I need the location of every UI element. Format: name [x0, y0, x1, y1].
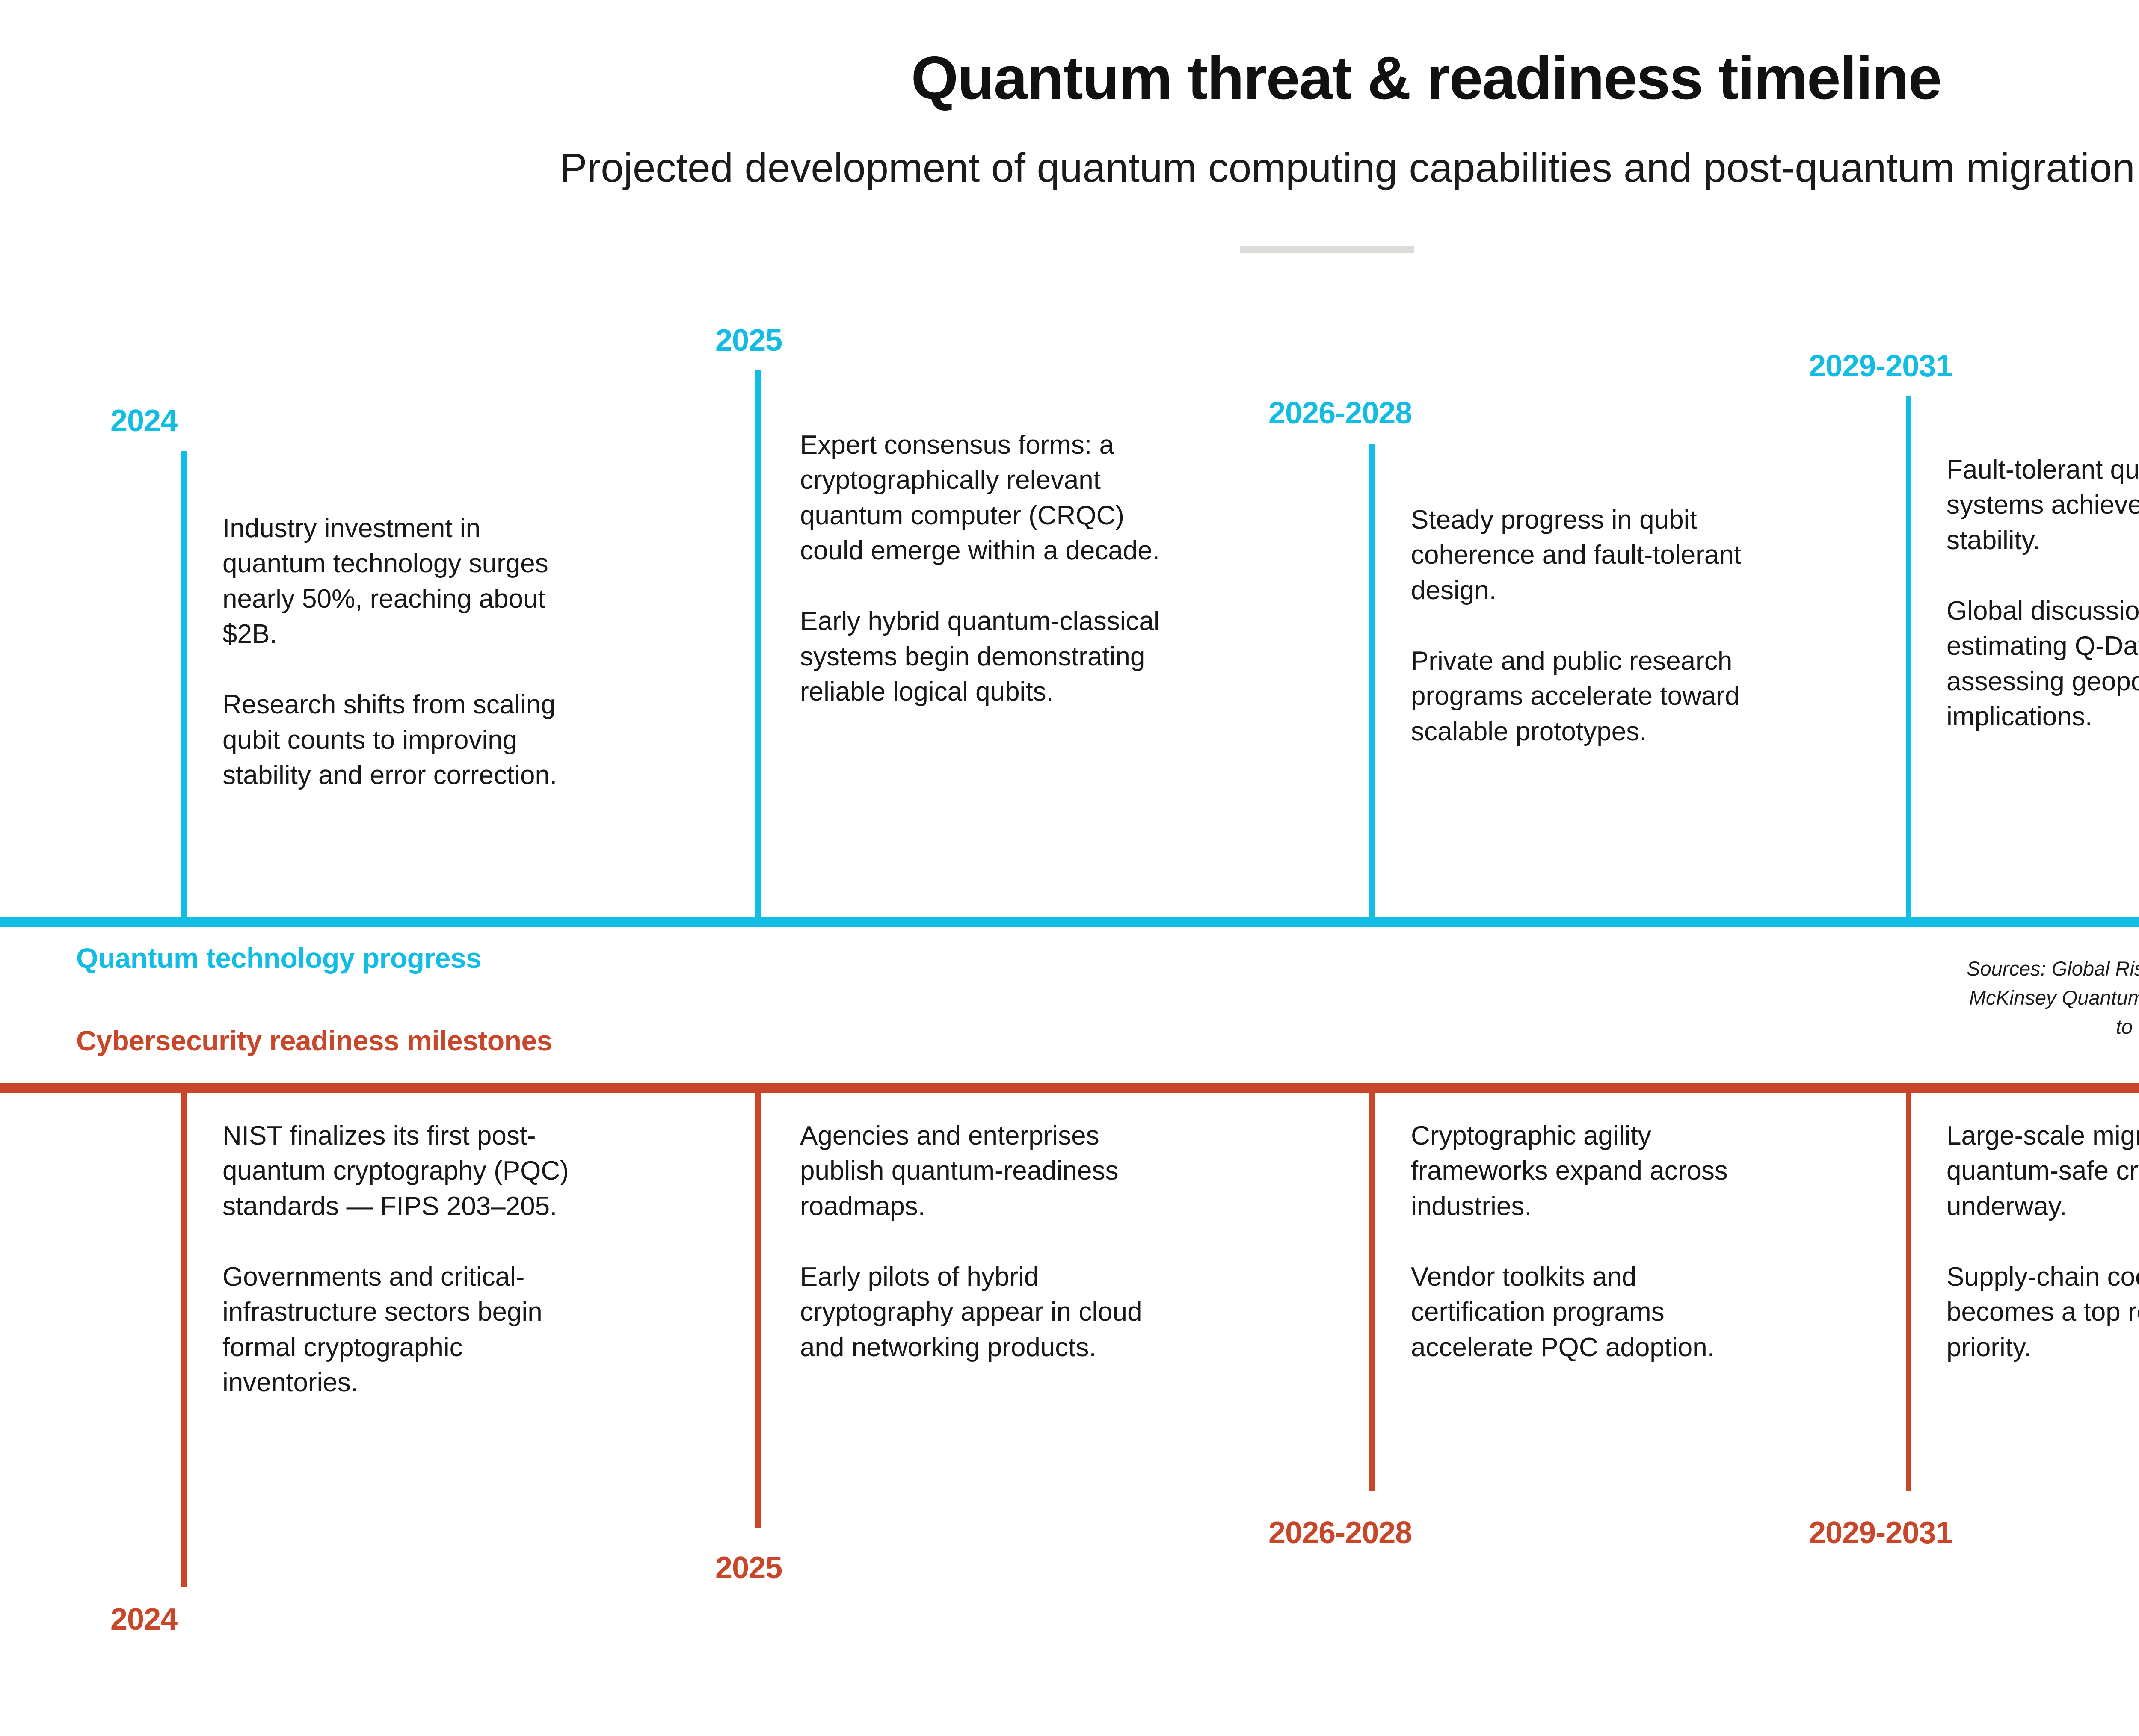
quantum-tick-2029-2031	[1906, 396, 1911, 918]
quantum-body-2029-2031-p1: Fault-tolerant quantum systems achieve m…	[1946, 452, 2139, 558]
cyber-track-label: Cybersecurity readiness milestones	[76, 1026, 552, 1055]
cyber-tick-2029-2031	[1906, 1093, 1911, 1491]
cyber-body-2026-2028: Cryptographic agility frameworks expand …	[1411, 1118, 1770, 1365]
quantum-body-2025-p2: Early hybrid quantum-classical systems b…	[800, 604, 1168, 710]
quantum-year-2024: 2024	[110, 405, 177, 436]
quantum-track-rail	[0, 917, 2139, 927]
cyber-tick-2025	[755, 1093, 761, 1528]
sources-line-3: to Post-Quantum Cryptography; NIST, FIPS…	[1668, 1012, 2139, 1041]
cyber-body-2024: NIST finalizes its first post-quantum cr…	[222, 1118, 578, 1401]
sources-note: Sources: Global Risk Institute, Quantum …	[1668, 954, 2139, 1041]
cyber-body-2024-p1: NIST finalizes its first post-quantum cr…	[222, 1118, 578, 1224]
cyber-year-2026-2028: 2026-2028	[1268, 1517, 1412, 1548]
cyber-body-2029-2031-p1: Large-scale migration to quantum-safe cr…	[1946, 1118, 2139, 1224]
timeline-infographic: Quantum threat & readiness timeline Proj…	[0, 0, 2139, 1736]
page-subtitle: Projected development of quantum computi…	[0, 148, 2139, 189]
quantum-body-2025-p1: Expert consensus forms: a cryptographica…	[800, 428, 1168, 569]
quantum-body-2024: Industry investment in quantum technolog…	[222, 511, 573, 793]
cyber-tick-2026-2028	[1369, 1093, 1375, 1491]
cyber-body-2029-2031: Large-scale migration to quantum-safe cr…	[1946, 1118, 2139, 1365]
quantum-year-2026-2028: 2026-2028	[1268, 398, 1412, 429]
cyber-track-rail	[0, 1083, 2139, 1093]
quantum-body-2029-2031-p2: Global discussions focus on estimating Q…	[1946, 594, 2139, 735]
quantum-tick-2025	[755, 370, 761, 918]
cyber-body-2025-p1: Agencies and enterprises publish quantum…	[800, 1118, 1168, 1224]
page-title: Quantum threat & readiness timeline	[0, 48, 2139, 109]
cyber-year-2025: 2025	[715, 1553, 782, 1583]
quantum-body-2024-p2: Research shifts from scaling qubit count…	[222, 687, 573, 793]
quantum-body-2026-2028: Steady progress in qubit coherence and f…	[1411, 503, 1770, 749]
cyber-body-2025-p2: Early pilots of hybrid cryptography appe…	[800, 1260, 1168, 1365]
header-divider	[1240, 246, 1414, 253]
cyber-body-2026-2028-p2: Vendor toolkits and certification progra…	[1411, 1260, 1770, 1365]
cyber-body-2025: Agencies and enterprises publish quantum…	[800, 1118, 1168, 1365]
quantum-body-2024-p1: Industry investment in quantum technolog…	[222, 511, 573, 652]
cyber-body-2026-2028-p1: Cryptographic agility frameworks expand …	[1411, 1118, 1770, 1224]
sources-line-2: McKinsey Quantum Technology Monitor; CIS…	[1668, 983, 2139, 1012]
quantum-body-2025: Expert consensus forms: a cryptographica…	[800, 428, 1168, 710]
quantum-year-2029-2031: 2029-2031	[1809, 351, 1952, 382]
sources-line-1: Sources: Global Risk Institute, Quantum …	[1668, 954, 2139, 983]
quantum-tick-2024	[181, 451, 187, 918]
cyber-tick-2024	[181, 1093, 187, 1587]
quantum-year-2025: 2025	[715, 325, 782, 356]
quantum-body-2026-2028-p1: Steady progress in qubit coherence and f…	[1411, 503, 1770, 608]
cyber-body-2024-p2: Governments and critical-infrastructure …	[222, 1260, 578, 1401]
quantum-body-2026-2028-p2: Private and public research programs acc…	[1411, 644, 1770, 749]
quantum-body-2029-2031: Fault-tolerant quantum systems achieve m…	[1946, 452, 2139, 735]
quantum-track-label: Quantum technology progress	[76, 944, 481, 972]
quantum-tick-2026-2028	[1369, 444, 1375, 918]
cyber-year-2024: 2024	[110, 1604, 177, 1635]
cyber-body-2029-2031-p2: Supply-chain coordination becomes a top …	[1946, 1260, 2139, 1365]
cyber-year-2029-2031: 2029-2031	[1809, 1517, 1952, 1548]
